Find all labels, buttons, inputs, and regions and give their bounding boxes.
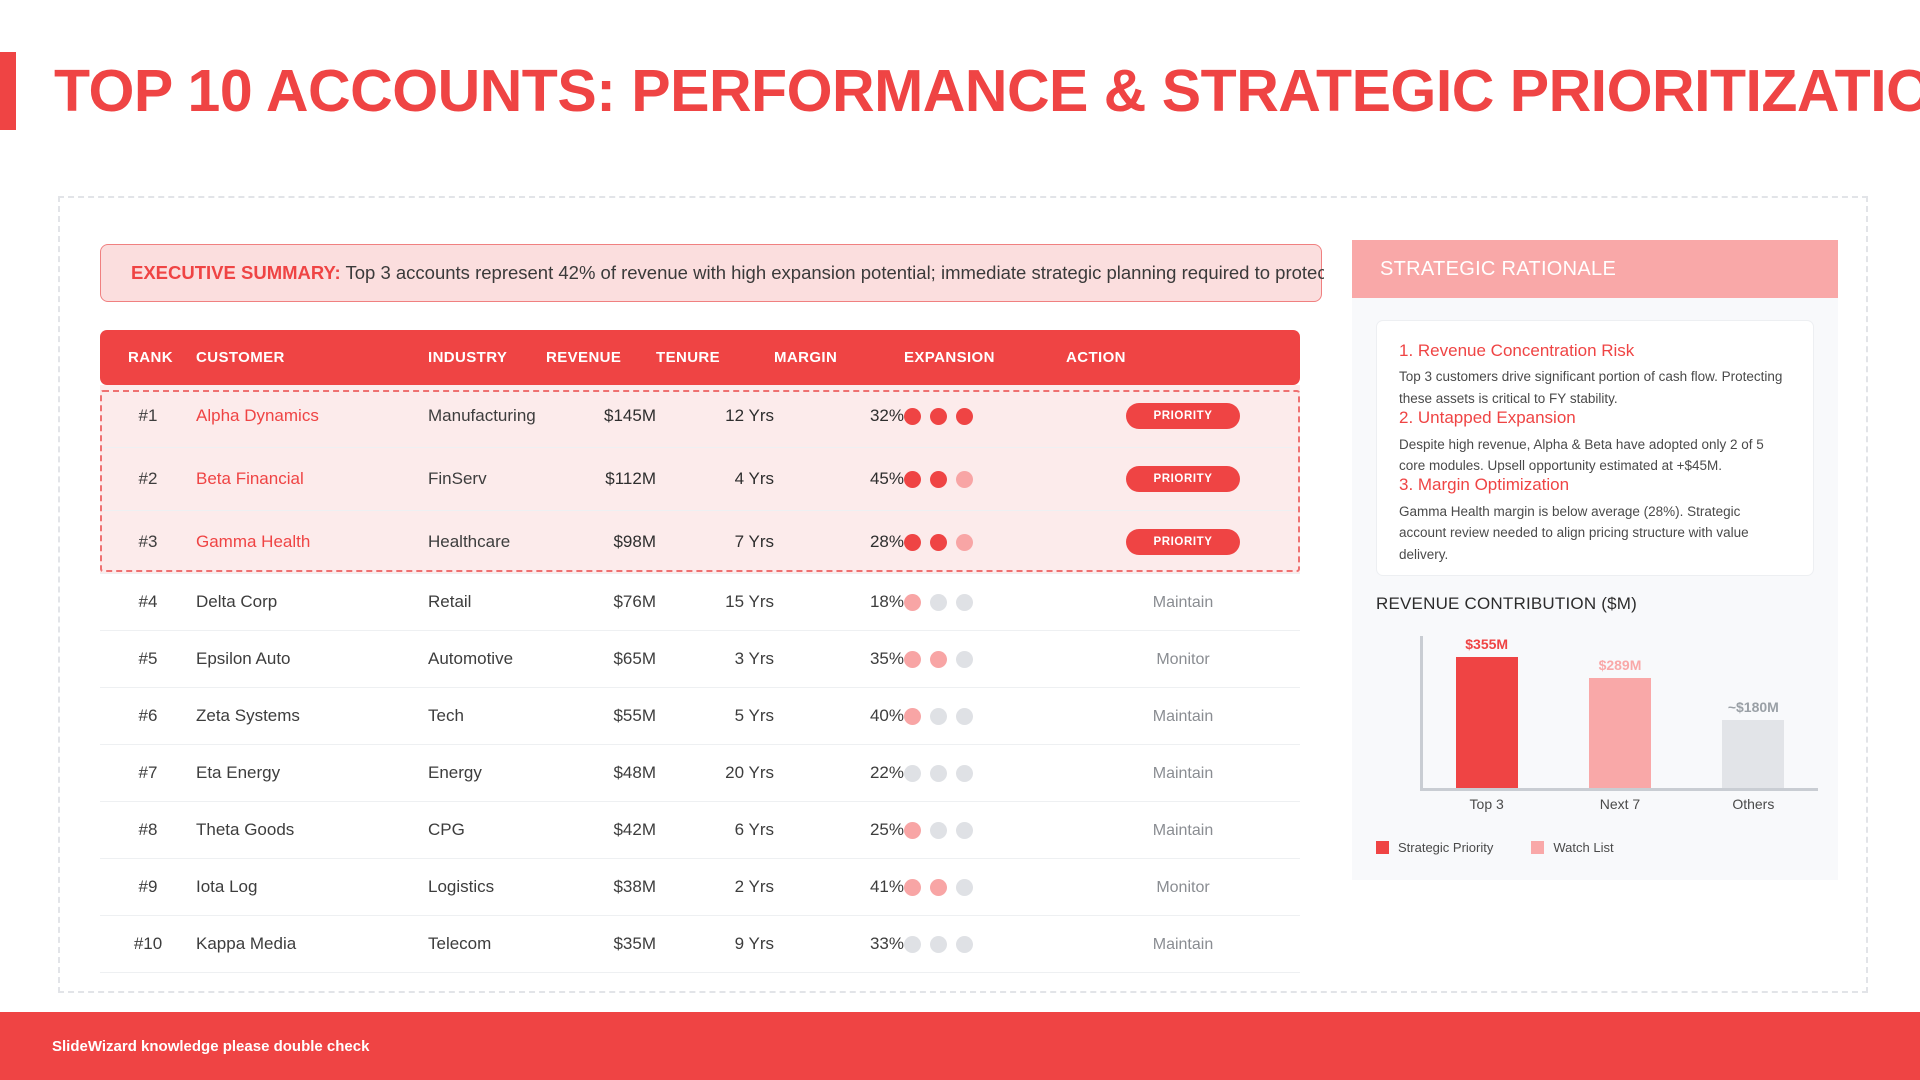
cell-action: Monitor — [1066, 859, 1300, 916]
cell-revenue: $35M — [546, 916, 656, 973]
cell-tenure: 3 Yrs — [656, 631, 774, 688]
cell-expansion — [904, 631, 1066, 688]
revenue-contribution-chart: $355M$289M~$180M Top 3Next 7Others — [1376, 632, 1814, 812]
cell-action: PRIORITY — [1066, 448, 1300, 511]
cell-action: Monitor — [1066, 631, 1300, 688]
col-header-industry[interactable]: INDUSTRY — [428, 330, 546, 385]
expansion-dots — [904, 471, 1066, 488]
expansion-dot-full — [956, 408, 973, 425]
cell-revenue: $98M — [546, 511, 656, 574]
cell-rank: #6 — [100, 688, 196, 745]
expansion-dot-empty — [930, 708, 947, 725]
expansion-dots — [904, 651, 1066, 668]
expansion-dots — [904, 765, 1066, 782]
cell-tenure: 9 Yrs — [656, 916, 774, 973]
cell-industry: Automotive — [428, 631, 546, 688]
cell-rank: #1 — [100, 385, 196, 448]
cell-margin: 25% — [774, 802, 904, 859]
cell-customer: Delta Corp — [196, 574, 428, 631]
action-label: Maintain — [1153, 594, 1213, 611]
cell-revenue: $55M — [546, 688, 656, 745]
cell-margin: 28% — [774, 511, 904, 574]
slide-root: TOP 10 ACCOUNTS: PERFORMANCE & STRATEGIC… — [0, 0, 1920, 1080]
cell-action: PRIORITY — [1066, 511, 1300, 574]
expansion-dot-full — [930, 534, 947, 551]
chart-legend-item: Watch List — [1531, 840, 1613, 855]
accounts-table: RANK CUSTOMER INDUSTRY REVENUE TENURE MA… — [100, 330, 1300, 973]
expansion-dot-empty — [930, 822, 947, 839]
cell-customer: Epsilon Auto — [196, 631, 428, 688]
cell-industry: Telecom — [428, 916, 546, 973]
chart-bar-value-label: ~$180M — [1728, 699, 1779, 715]
cell-expansion — [904, 448, 1066, 511]
cell-customer: Gamma Health — [196, 511, 428, 574]
cell-revenue: $145M — [546, 385, 656, 448]
expansion-dot-full — [904, 408, 921, 425]
cell-margin: 40% — [774, 688, 904, 745]
banner-overflow-mask — [1324, 234, 1352, 314]
action-label: Maintain — [1153, 765, 1213, 782]
cell-margin: 18% — [774, 574, 904, 631]
cell-action: Maintain — [1066, 745, 1300, 802]
chart-x-tick-label: Next 7 — [1553, 796, 1686, 812]
cell-industry: FinServ — [428, 448, 546, 511]
cell-margin: 33% — [774, 916, 904, 973]
cell-margin: 35% — [774, 631, 904, 688]
expansion-dot-empty — [956, 822, 973, 839]
chart-bar-column: $289M — [1553, 636, 1686, 788]
action-label: Monitor — [1156, 879, 1209, 896]
expansion-dot-empty — [956, 936, 973, 953]
cell-expansion — [904, 916, 1066, 973]
rationale-card: 1. Revenue Concentration RiskTop 3 custo… — [1376, 320, 1814, 576]
chart-x-axis — [1420, 788, 1818, 791]
page-title: TOP 10 ACCOUNTS: PERFORMANCE & STRATEGIC… — [54, 52, 1920, 130]
expansion-dot-half — [956, 534, 973, 551]
cell-revenue: $76M — [546, 574, 656, 631]
cell-customer: Kappa Media — [196, 916, 428, 973]
expansion-dot-empty — [956, 879, 973, 896]
rationale-item-2: 2. Untapped ExpansionDespite high revenu… — [1399, 408, 1791, 477]
expansion-dots — [904, 408, 1066, 425]
expansion-dot-half — [904, 594, 921, 611]
chart-legend-label: Watch List — [1553, 840, 1613, 855]
col-header-margin[interactable]: MARGIN — [774, 330, 904, 385]
cell-action: Maintain — [1066, 802, 1300, 859]
cell-customer: Eta Energy — [196, 745, 428, 802]
expansion-dot-empty — [956, 765, 973, 782]
chart-legend-swatch — [1531, 841, 1544, 854]
rationale-item-body: Gamma Health margin is below average (28… — [1399, 501, 1791, 567]
cell-rank: #10 — [100, 916, 196, 973]
cell-customer: Theta Goods — [196, 802, 428, 859]
cell-tenure: 6 Yrs — [656, 802, 774, 859]
cell-expansion — [904, 802, 1066, 859]
expansion-dot-half — [956, 471, 973, 488]
expansion-dots — [904, 879, 1066, 896]
cell-tenure: 4 Yrs — [656, 448, 774, 511]
cell-revenue: $112M — [546, 448, 656, 511]
rationale-item-title: 3. Margin Optimization — [1399, 475, 1791, 495]
table-row[interactable]: #1Alpha DynamicsManufacturing$145M12 Yrs… — [100, 385, 1300, 448]
cell-margin: 41% — [774, 859, 904, 916]
rationale-item-body: Despite high revenue, Alpha & Beta have … — [1399, 434, 1791, 478]
rationale-item-3: 3. Margin OptimizationGamma Health margi… — [1399, 475, 1791, 566]
expansion-dot-full — [930, 471, 947, 488]
action-label: Monitor — [1156, 651, 1209, 668]
table-body: #1Alpha DynamicsManufacturing$145M12 Yrs… — [100, 385, 1300, 973]
cell-industry: Tech — [428, 688, 546, 745]
cell-expansion — [904, 859, 1066, 916]
chart-legend-label: Strategic Priority — [1398, 840, 1493, 855]
footer-text: SlideWizard knowledge please double chec… — [52, 1038, 369, 1055]
expansion-dot-empty — [956, 651, 973, 668]
strategic-rationale-header: STRATEGIC RATIONALE — [1352, 240, 1838, 298]
chart-bar-column: $355M — [1420, 636, 1553, 788]
cell-action: Maintain — [1066, 688, 1300, 745]
priority-badge[interactable]: PRIORITY — [1126, 529, 1239, 555]
col-header-action[interactable]: ACTION — [1066, 330, 1300, 385]
cell-rank: #9 — [100, 859, 196, 916]
cell-action: PRIORITY — [1066, 385, 1300, 448]
cell-customer: Alpha Dynamics — [196, 385, 428, 448]
col-header-rank[interactable]: RANK — [100, 330, 196, 385]
cell-customer: Beta Financial — [196, 448, 428, 511]
col-header-customer[interactable]: CUSTOMER — [196, 330, 428, 385]
cell-expansion — [904, 745, 1066, 802]
table-row[interactable]: #7Eta EnergyEnergy$48M20 Yrs22%Maintain — [100, 745, 1300, 802]
table-row[interactable]: #6Zeta SystemsTech$55M5 Yrs40%Maintain — [100, 688, 1300, 745]
cell-industry: Retail — [428, 574, 546, 631]
slide-title-row: TOP 10 ACCOUNTS: PERFORMANCE & STRATEGIC… — [0, 52, 1920, 130]
action-label: Maintain — [1153, 708, 1213, 725]
expansion-dots — [904, 936, 1066, 953]
chart-legend: Strategic PriorityWatch List — [1376, 840, 1614, 855]
cell-tenure: 5 Yrs — [656, 688, 774, 745]
expansion-dot-empty — [930, 594, 947, 611]
cell-industry: Manufacturing — [428, 385, 546, 448]
expansion-dot-half — [904, 651, 921, 668]
cell-industry: Logistics — [428, 859, 546, 916]
chart-legend-item: Strategic Priority — [1376, 840, 1493, 855]
expansion-dot-empty — [930, 936, 947, 953]
expansion-dot-half — [904, 822, 921, 839]
cell-expansion — [904, 574, 1066, 631]
expansion-dot-half — [904, 708, 921, 725]
cell-expansion — [904, 688, 1066, 745]
chart-x-labels: Top 3Next 7Others — [1420, 796, 1820, 812]
expansion-dots — [904, 594, 1066, 611]
expansion-dot-full — [904, 534, 921, 551]
cell-customer: Iota Log — [196, 859, 428, 916]
expansion-dots — [904, 822, 1066, 839]
chart-bar[interactable] — [1456, 657, 1518, 788]
chart-bars: $355M$289M~$180M — [1420, 636, 1820, 788]
chart-bar-column: ~$180M — [1687, 636, 1820, 788]
action-label: Maintain — [1153, 822, 1213, 839]
strategic-rationale-panel: STRATEGIC RATIONALE 1. Revenue Concentra… — [1352, 240, 1838, 880]
col-header-expansion[interactable]: EXPANSION — [904, 330, 1066, 385]
expansion-dot-half — [930, 651, 947, 668]
cell-margin: 45% — [774, 448, 904, 511]
chart-bar[interactable] — [1589, 678, 1651, 788]
chart-bar-value-label: $289M — [1599, 657, 1642, 673]
expansion-dot-empty — [930, 765, 947, 782]
chart-bar[interactable] — [1722, 720, 1784, 788]
cell-action: Maintain — [1066, 574, 1300, 631]
rationale-item-title: 2. Untapped Expansion — [1399, 408, 1791, 428]
rationale-item-body: Top 3 customers drive significant portio… — [1399, 366, 1791, 410]
expansion-dot-half — [930, 879, 947, 896]
expansion-dot-empty — [904, 765, 921, 782]
rationale-item-title: 1. Revenue Concentration Risk — [1399, 341, 1791, 361]
cell-tenure: 2 Yrs — [656, 859, 774, 916]
expansion-dots — [904, 534, 1066, 551]
chart-legend-swatch — [1376, 841, 1389, 854]
cell-rank: #7 — [100, 745, 196, 802]
cell-industry: Healthcare — [428, 511, 546, 574]
chart-bar-value-label: $355M — [1465, 636, 1508, 652]
table-row[interactable]: #5Epsilon AutoAutomotive$65M3 Yrs35%Moni… — [100, 631, 1300, 688]
cell-revenue: $38M — [546, 859, 656, 916]
chart-x-tick-label: Top 3 — [1420, 796, 1553, 812]
cell-rank: #8 — [100, 802, 196, 859]
cell-expansion — [904, 385, 1066, 448]
table-row[interactable]: #8Theta GoodsCPG$42M6 Yrs25%Maintain — [100, 802, 1300, 859]
executive-summary-banner: EXECUTIVE SUMMARY: Top 3 accounts repres… — [100, 244, 1322, 302]
col-header-tenure[interactable]: TENURE — [656, 330, 774, 385]
cell-customer: Zeta Systems — [196, 688, 428, 745]
cell-rank: #3 — [100, 511, 196, 574]
cell-rank: #4 — [100, 574, 196, 631]
table-row[interactable]: #4Delta CorpRetail$76M15 Yrs18%Maintain — [100, 574, 1300, 631]
expansion-dot-full — [904, 471, 921, 488]
expansion-dot-empty — [956, 708, 973, 725]
expansion-dot-empty — [956, 594, 973, 611]
cell-margin: 32% — [774, 385, 904, 448]
priority-badge[interactable]: PRIORITY — [1126, 466, 1239, 492]
footer-bar: SlideWizard knowledge please double chec… — [0, 1012, 1920, 1080]
cell-tenure: 20 Yrs — [656, 745, 774, 802]
table-header-row: RANK CUSTOMER INDUSTRY REVENUE TENURE MA… — [100, 330, 1300, 385]
cell-industry: Energy — [428, 745, 546, 802]
table-row[interactable]: #2Beta FinancialFinServ$112M4 Yrs45%PRIO… — [100, 448, 1300, 511]
executive-summary-label: EXECUTIVE SUMMARY: — [131, 262, 341, 283]
cell-margin: 22% — [774, 745, 904, 802]
cell-rank: #2 — [100, 448, 196, 511]
priority-badge[interactable]: PRIORITY — [1126, 403, 1239, 429]
table-row[interactable]: #10Kappa MediaTelecom$35M9 Yrs33%Maintai… — [100, 916, 1300, 973]
cell-tenure: 12 Yrs — [656, 385, 774, 448]
action-label: Maintain — [1153, 936, 1213, 953]
title-accent-bar — [0, 52, 16, 130]
accounts-table-wrap: RANK CUSTOMER INDUSTRY REVENUE TENURE MA… — [100, 330, 1300, 973]
chart-x-tick-label: Others — [1687, 796, 1820, 812]
cell-revenue: $42M — [546, 802, 656, 859]
cell-action: Maintain — [1066, 916, 1300, 973]
expansion-dot-empty — [904, 936, 921, 953]
chart-title: REVENUE CONTRIBUTION ($M) — [1376, 594, 1838, 614]
expansion-dot-full — [930, 408, 947, 425]
expansion-dot-half — [904, 879, 921, 896]
table-row[interactable]: #9Iota LogLogistics$38M2 Yrs41%Monitor — [100, 859, 1300, 916]
rationale-item-1: 1. Revenue Concentration RiskTop 3 custo… — [1399, 341, 1791, 410]
table-row[interactable]: #3Gamma HealthHealthcare$98M7 Yrs28%PRIO… — [100, 511, 1300, 574]
cell-rank: #5 — [100, 631, 196, 688]
cell-tenure: 15 Yrs — [656, 574, 774, 631]
cell-tenure: 7 Yrs — [656, 511, 774, 574]
expansion-dots — [904, 708, 1066, 725]
table-header: RANK CUSTOMER INDUSTRY REVENUE TENURE MA… — [100, 330, 1300, 385]
cell-revenue: $65M — [546, 631, 656, 688]
cell-industry: CPG — [428, 802, 546, 859]
col-header-revenue[interactable]: REVENUE — [546, 330, 656, 385]
cell-revenue: $48M — [546, 745, 656, 802]
cell-expansion — [904, 511, 1066, 574]
